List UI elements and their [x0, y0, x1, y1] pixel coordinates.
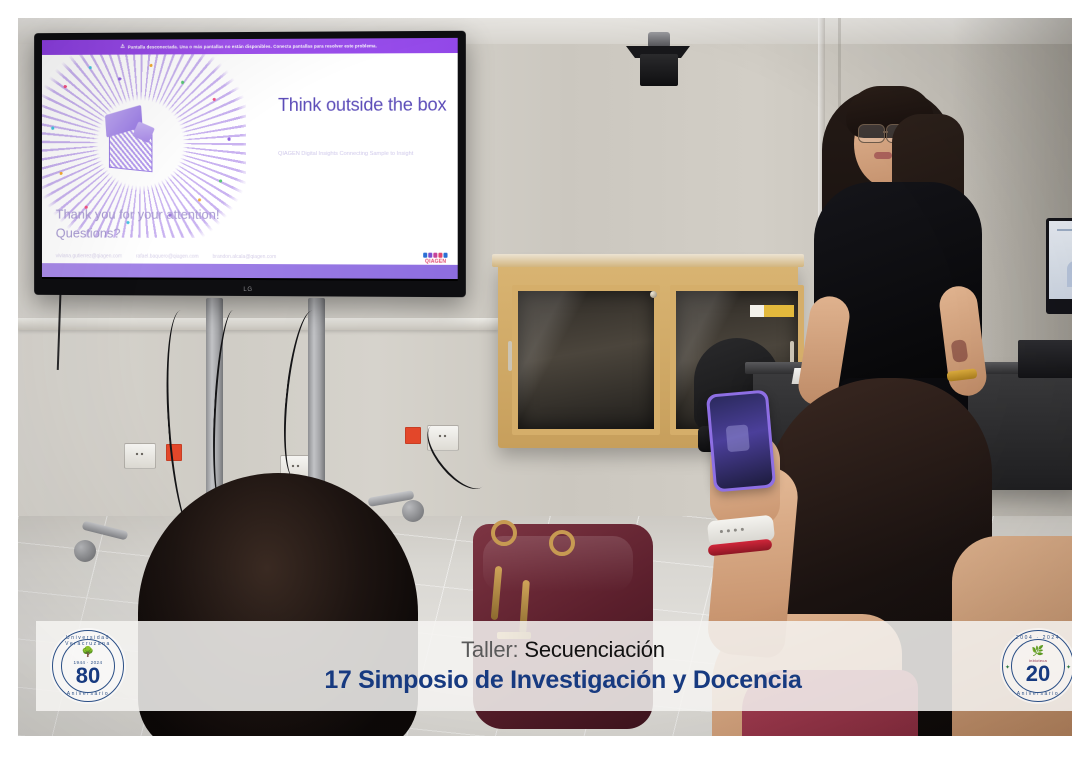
open-box-graphic — [103, 106, 158, 168]
event-banner: Universidad Veracruzana 🌳 1944 · 2024 80… — [36, 621, 1072, 711]
cabinet-door-left[interactable] — [512, 285, 660, 435]
seal-core: 🌿 inbioteca 20 — [1026, 647, 1050, 685]
slide-title: Think outside the box — [278, 95, 458, 115]
seal-number: 20 — [1026, 663, 1050, 685]
side-monitor — [1046, 218, 1072, 314]
warning-triangle-icon: ⚠ — [120, 45, 125, 50]
slide-thanks-text: Thank you for your attention! — [56, 206, 220, 225]
tv-brand-logo: LG — [243, 287, 252, 293]
workshop-line: Taller: Secuenciación — [324, 637, 801, 663]
cabinet-top — [492, 254, 804, 267]
side-monitor-line — [1057, 229, 1072, 231]
workshop-label: Taller: — [461, 637, 518, 662]
bracket-camera-icon — [648, 32, 670, 48]
warning-text: Pantalla desconectada. Una o más pantall… — [128, 43, 377, 49]
universidad-veracruzana-seal: Universidad Veracruzana 🌳 1944 · 2024 80… — [50, 628, 126, 704]
leaf-left-icon: ✦ — [1005, 664, 1010, 671]
caster-wheel-left — [74, 540, 96, 562]
desk-equipment-box — [1018, 340, 1072, 378]
slide-footer-bar — [42, 263, 458, 279]
glasses-bridge-icon — [883, 131, 888, 133]
event-title: 17 Simposio de Investigación y Docencia — [324, 666, 801, 696]
leaf-right-icon: ✦ — [1066, 664, 1071, 671]
slide-subtitle: QIAGEN Digital Insights Connecting Sampl… — [278, 150, 458, 159]
side-monitor-avatar-body — [1067, 261, 1072, 287]
inbioteca-seal: 2004 · 2024 ✦ ✦ 🌿 inbioteca 20 Aniversar… — [1000, 628, 1072, 704]
presentation-slide: Think outside the box QIAGEN Digital Ins… — [42, 53, 458, 279]
smartwatch-dots-icon — [720, 528, 744, 533]
seal-arc-bottom: Aniversario — [50, 691, 126, 697]
cabinet-handle-left[interactable] — [508, 341, 512, 371]
slide-email-1: viviana.gutierrez@qiagen.com — [56, 253, 122, 259]
workshop-name: Secuenciación — [524, 637, 665, 662]
side-monitor-screen — [1049, 221, 1072, 299]
seal-core: 1944 · 2024 80 — [74, 646, 103, 687]
glasses-left-lens-icon — [858, 124, 885, 143]
banner-text-block: Taller: Secuenciación 17 Simposio de Inv… — [324, 637, 801, 695]
cabinet-label-note — [750, 305, 794, 317]
cabinet-glass-glare — [518, 291, 654, 429]
slide-email-2: rafael.baquero@qiagen.com — [136, 254, 199, 260]
handbag-ring-center — [549, 530, 575, 556]
handbag-ring-left — [491, 520, 517, 546]
qiagen-dots-icon — [424, 253, 448, 258]
presenter-mouth — [874, 152, 892, 159]
screenshot-root: ⚠ Pantalla desconectada. Una o más panta… — [0, 0, 1090, 760]
smartphone[interactable] — [706, 389, 776, 492]
tv-bezel: ⚠ Pantalla desconectada. Una o más panta… — [42, 38, 458, 281]
event-photo: ⚠ Pantalla desconectada. Una o más panta… — [18, 18, 1072, 736]
cabinet-knob[interactable] — [650, 291, 657, 298]
seal-number: 80 — [74, 665, 103, 687]
flame-leaf-emblem-icon: 🌿 — [1026, 647, 1050, 657]
smartphone-screen — [709, 393, 773, 490]
bracket-plate — [640, 54, 678, 86]
smartphone-screen-content — [726, 424, 750, 452]
slide-thanks-block: Thank you for your attention! Questions? — [56, 206, 220, 244]
qiagen-logo: QIAGEN — [424, 253, 448, 265]
slide-contact-emails: viviana.gutierrez@qiagen.com rafael.baqu… — [56, 253, 385, 260]
seal-arc-bottom: Aniversario — [1000, 691, 1072, 697]
presenter-tattoo — [951, 339, 969, 363]
television-display[interactable]: ⚠ Pantalla desconectada. Una o más panta… — [34, 31, 466, 297]
slide-email-3: brandon.alcala@qiagen.com — [213, 254, 277, 260]
slide-questions-text: Questions? — [56, 224, 220, 243]
projector-bracket — [626, 32, 690, 90]
seal-arc-top: 2004 · 2024 — [1000, 635, 1072, 641]
